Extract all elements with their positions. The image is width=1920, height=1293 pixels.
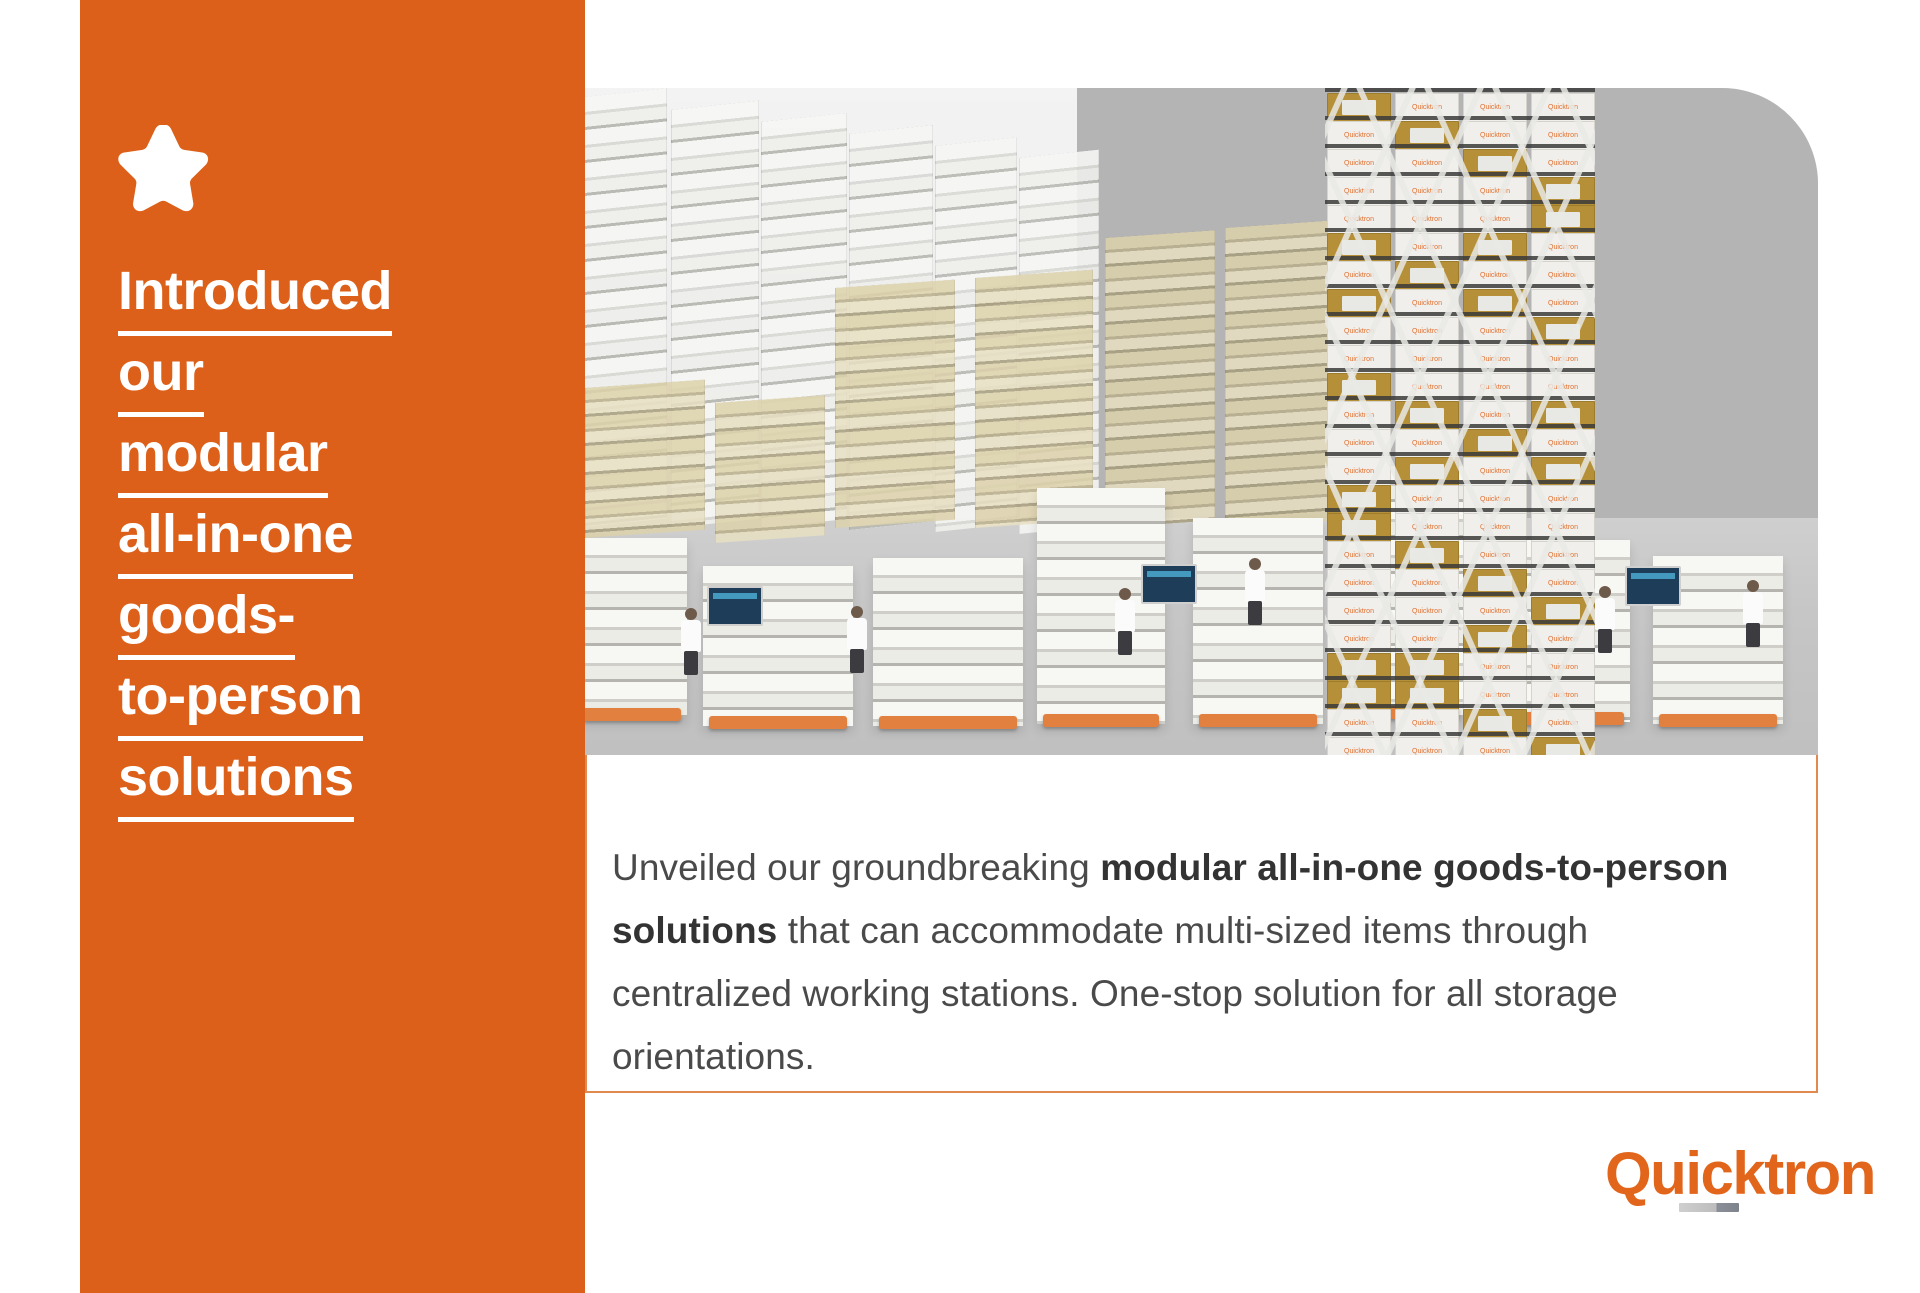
hero-mobile-rack [873, 558, 1023, 726]
hero-shelf-beam [1325, 172, 1595, 176]
hero-worker [847, 606, 867, 672]
hero-mid-rack [715, 395, 825, 543]
title-line: goods- [118, 579, 558, 660]
worker-head [1119, 588, 1131, 600]
hero-worker [1743, 580, 1763, 646]
body-paragraph: Unveiled our groundbreaking modular all-… [612, 836, 1772, 1088]
hero-agv-robot [1043, 714, 1159, 727]
logo-underline-mark [1679, 1203, 1739, 1212]
hero-worker [1595, 586, 1615, 652]
content-column: QuicktronQuicktronQuicktronQuicktronQuic… [585, 0, 1920, 1293]
title-line: to-person [118, 660, 558, 741]
worker-legs [1118, 631, 1132, 655]
worker-torso [1743, 592, 1763, 624]
hero-mid-rack [835, 280, 955, 528]
hero-shelf-beam [1325, 424, 1595, 428]
worker-torso [1245, 570, 1265, 602]
title-line: all-in-one [118, 498, 558, 579]
worker-legs [1248, 601, 1262, 625]
hero-carton-label [1478, 156, 1512, 171]
hero-mid-rack [1105, 230, 1215, 528]
worker-legs [1746, 623, 1760, 647]
hero-image: QuicktronQuicktronQuicktronQuicktronQuic… [585, 88, 1818, 755]
quicktron-logo: Quicktron [1605, 1138, 1895, 1210]
worker-torso [681, 620, 701, 652]
hero-shelf-beam [1325, 144, 1595, 148]
worker-legs [850, 649, 864, 673]
worker-legs [1598, 629, 1612, 653]
hero-shelf-beam [1325, 88, 1595, 92]
hero-agv-robot [1659, 714, 1777, 727]
hero-carton-label [1478, 436, 1512, 451]
sidebar-panel: Introduced our modular all-in-one goods-… [80, 0, 585, 1293]
hero-shelf-beam [1325, 452, 1595, 456]
hero-worker [1245, 558, 1265, 624]
hero-carton-label [1342, 296, 1376, 311]
hero-carton-label [1546, 744, 1580, 755]
worker-head [1747, 580, 1759, 592]
hero-shelf-beam [1325, 508, 1595, 512]
worker-head [1249, 558, 1261, 570]
description-card: Unveiled our groundbreaking modular all-… [585, 755, 1818, 1093]
hero-carton-label [1478, 296, 1512, 311]
hero-mobile-rack [585, 538, 687, 718]
logo-wordmark: Quicktron [1605, 1138, 1895, 1210]
hero-worker [1115, 588, 1135, 654]
hero-mobile-rack [1037, 488, 1165, 724]
hero-mid-rack [585, 380, 705, 538]
body-text: Unveiled our groundbreaking [612, 847, 1100, 888]
hero-agv-robot [1199, 714, 1317, 727]
worker-head [685, 608, 697, 620]
title-line: our [118, 336, 558, 417]
hero-workstation-screen [1141, 564, 1197, 604]
worker-head [1599, 586, 1611, 598]
hero-shelf-beam [1325, 480, 1595, 484]
hero-carton-wall: QuicktronQuicktronQuicktronQuicktronQuic… [1325, 88, 1595, 755]
hero-workstation-screen [1625, 566, 1681, 606]
star-icon [117, 125, 213, 217]
worker-head [851, 606, 863, 618]
title-line: Introduced [118, 255, 558, 336]
hero-agv-robot [585, 708, 681, 721]
title-line: modular [118, 417, 558, 498]
hero-workstation-screen [707, 586, 763, 626]
hero-mid-rack [1225, 220, 1335, 528]
hero-agv-robot [709, 716, 847, 729]
title-line: solutions [118, 741, 558, 822]
hero-carton-label [1410, 128, 1444, 143]
worker-torso [1595, 598, 1615, 630]
worker-legs [684, 651, 698, 675]
page-title: Introduced our modular all-in-one goods-… [118, 255, 558, 822]
hero-agv-robot [879, 716, 1017, 729]
worker-torso [847, 618, 867, 650]
hero-carton-label [1546, 604, 1580, 619]
worker-torso [1115, 600, 1135, 632]
hero-worker [681, 608, 701, 674]
hero-shelf-beam [1325, 116, 1595, 120]
